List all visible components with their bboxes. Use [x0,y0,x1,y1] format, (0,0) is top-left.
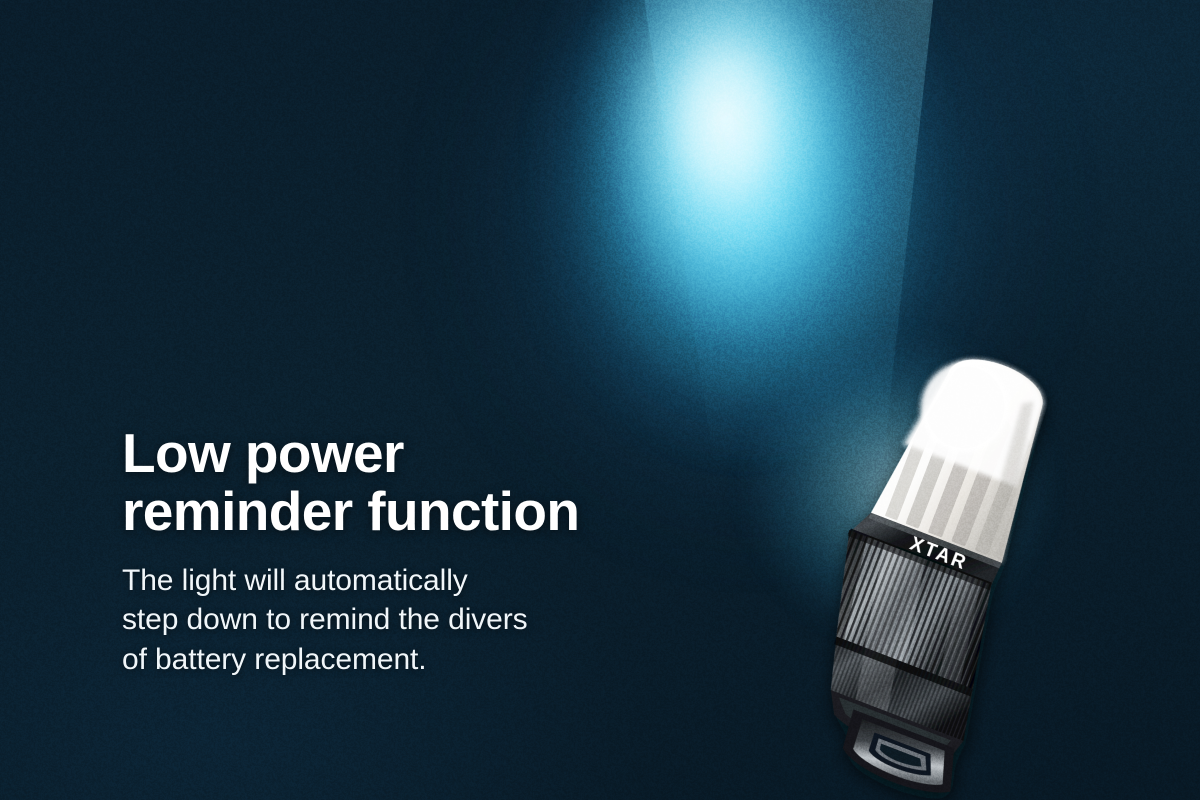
keyring-loop [834,709,965,800]
brand-collar: XTAR [848,508,1002,589]
subcopy: The light will automatically step down t… [122,561,762,681]
copy-block: Low power reminder function The light wi… [122,424,762,680]
diffuser-dome [870,340,1070,565]
subcopy-line-2: step down to remind the divers [122,600,762,640]
knurled-body [799,521,1031,705]
promo-canvas: XTAR [0,0,1200,800]
beam-cone [618,0,958,460]
subcopy-line-3: of battery replacement. [122,640,762,680]
headline: Low power reminder function [122,424,762,541]
headline-line-1: Low power [122,424,762,482]
lamp-head-halo [752,340,1042,630]
tail-cap [797,627,1006,779]
subcopy-line-1: The light will automatically [122,561,762,601]
beam-hotspot [560,0,890,400]
brand-logo: XTAR [907,534,970,575]
xtar-dive-flashlight: XTAR [782,366,1102,776]
headline-line-2: reminder function [122,482,762,540]
